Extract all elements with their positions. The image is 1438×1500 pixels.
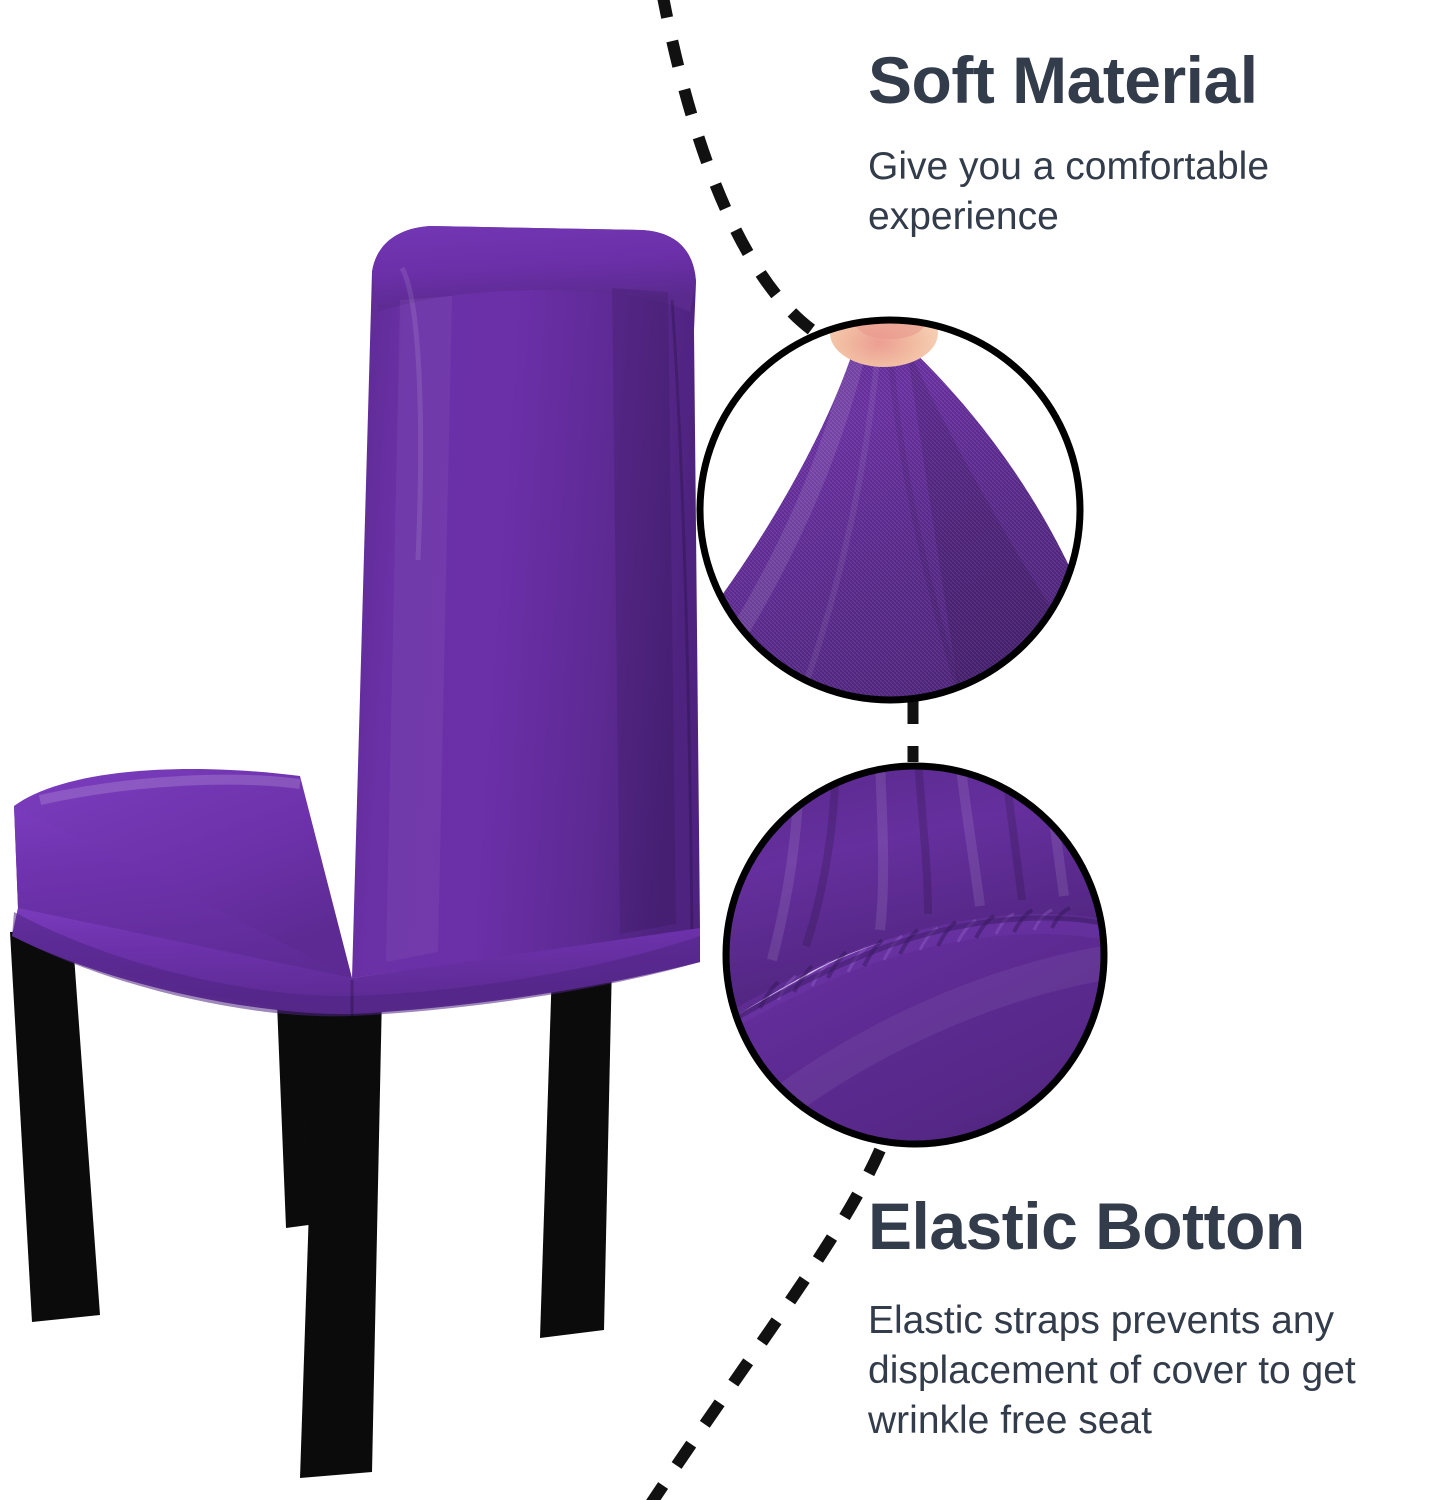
elastic-botton-subtext: Elastic straps prevents any displacement… (868, 1296, 1428, 1446)
chair-back-cover (352, 226, 700, 978)
elastic-botton-text-block: Elastic Botton Elastic straps prevents a… (868, 1192, 1428, 1446)
fingertip (830, 299, 938, 367)
elastic-botton-heading: Elastic Botton (868, 1192, 1428, 1262)
dining-chair (10, 226, 700, 1478)
soft-material-subtext: Give you a comfortable experience (868, 142, 1368, 242)
soft-material-text-block: Soft Material Give you a comfortable exp… (868, 46, 1368, 242)
elastic-botton-detail-circle (716, 760, 1116, 1152)
soft-material-heading: Soft Material (868, 46, 1368, 116)
soft-material-detail-circle (640, 299, 1110, 704)
infographic-canvas: Soft Material Give you a comfortable exp… (0, 0, 1438, 1500)
